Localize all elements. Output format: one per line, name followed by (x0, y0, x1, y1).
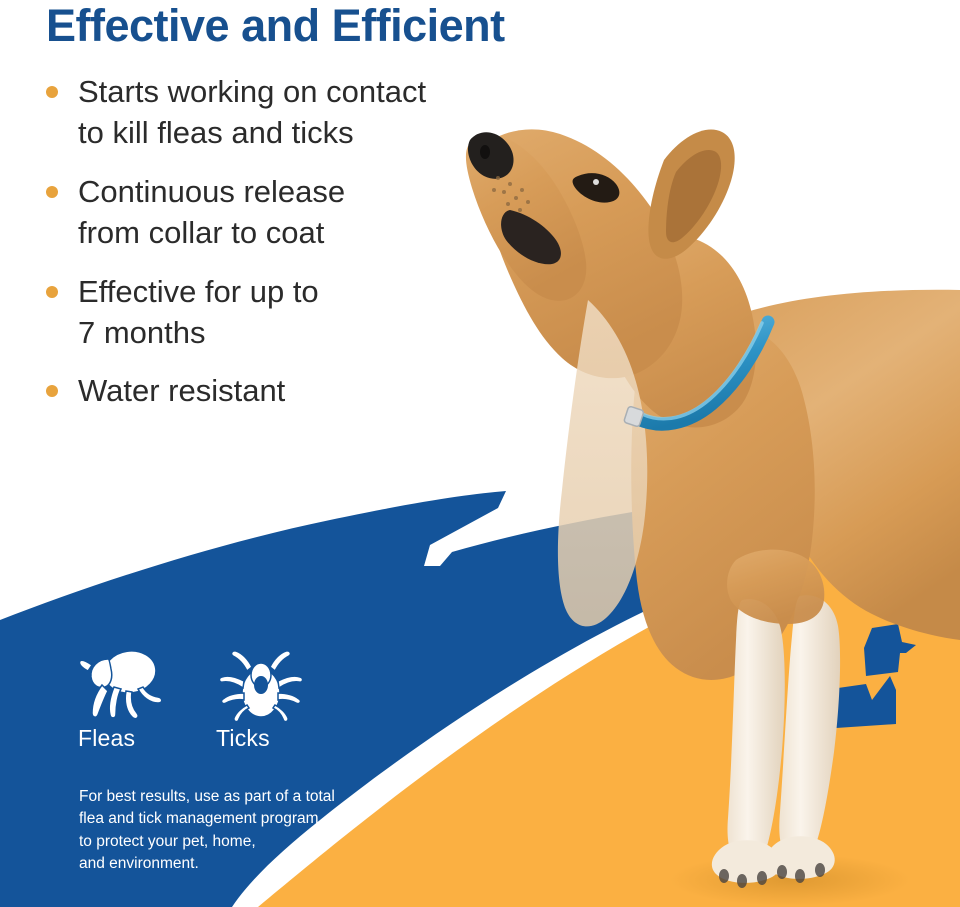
pest-icon-group: Fleas Ticks (78, 645, 316, 752)
list-item-label: Starts working on contact to kill fleas … (78, 72, 538, 154)
bullet-dot-icon (46, 286, 58, 298)
pest-label: Fleas (78, 725, 178, 752)
list-item: Continuous release from collar to coat (38, 172, 538, 254)
tick-icon (216, 645, 306, 723)
list-item-label: Water resistant (78, 371, 538, 412)
bullet-dot-icon (46, 385, 58, 397)
list-item: Effective for up to 7 months (38, 272, 538, 354)
fine-print-disclaimer: For best results, use as part of a total… (79, 786, 409, 876)
list-item: Starts working on contact to kill fleas … (38, 72, 538, 154)
pest-tick: Ticks (216, 645, 316, 752)
pest-flea: Fleas (78, 645, 178, 752)
list-item-label: Effective for up to 7 months (78, 272, 538, 354)
page-title: Effective and Efficient (46, 2, 505, 49)
feature-bullet-list: Starts working on contact to kill fleas … (38, 72, 538, 430)
list-item: Water resistant (38, 371, 538, 412)
product-feature-card: Effective and Efficient Starts working o… (0, 0, 960, 907)
bullet-dot-icon (46, 86, 58, 98)
flea-icon (78, 645, 168, 723)
pest-label: Ticks (216, 725, 316, 752)
list-item-label: Continuous release from collar to coat (78, 172, 538, 254)
bullet-dot-icon (46, 186, 58, 198)
